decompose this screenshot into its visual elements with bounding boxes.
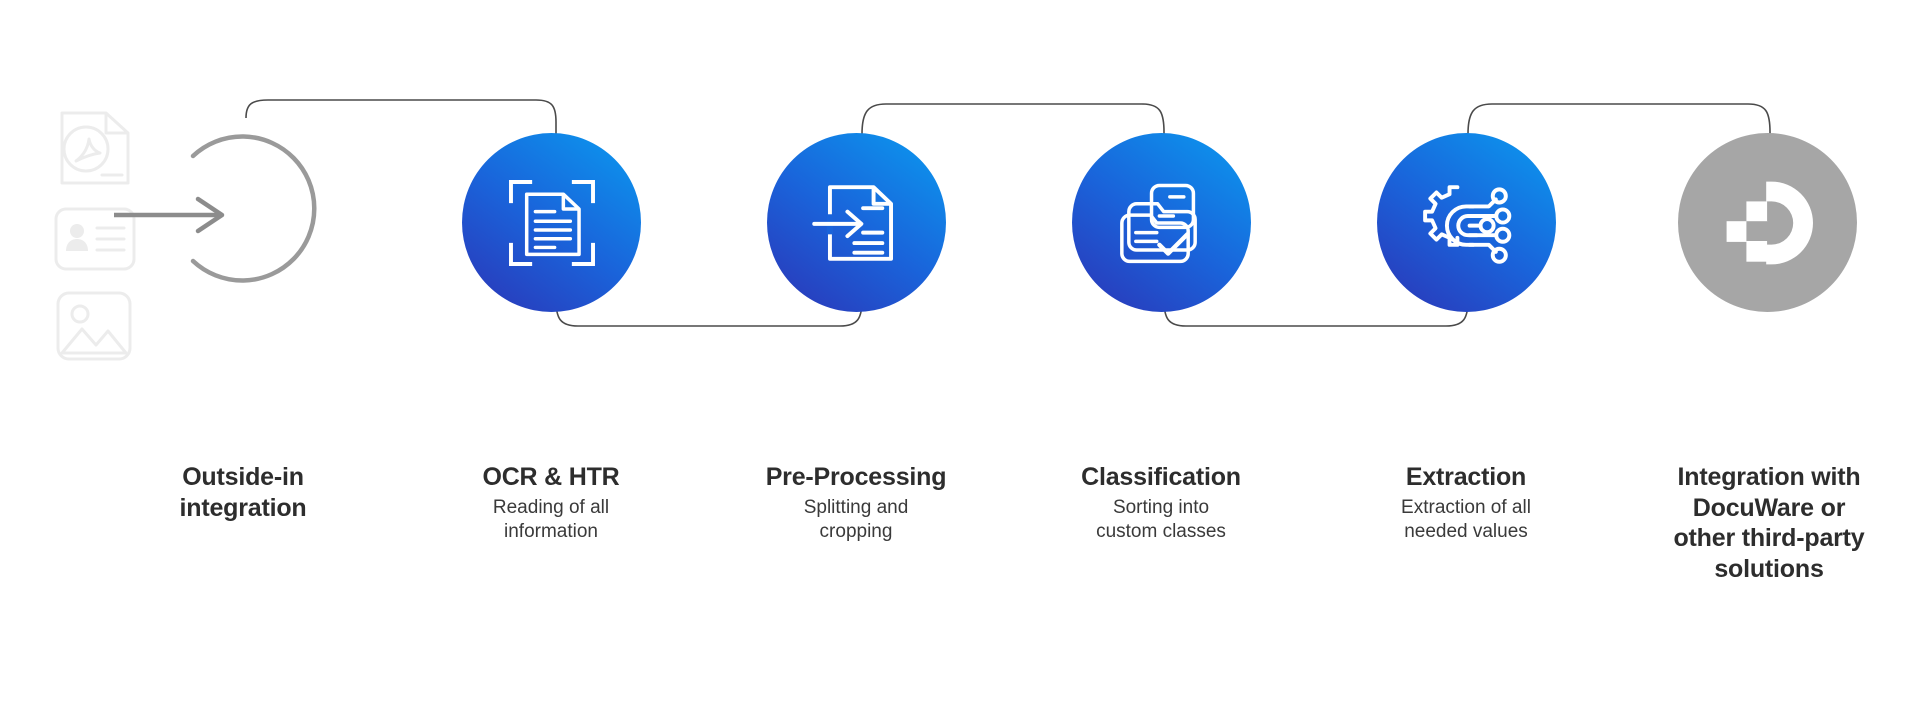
caption-title: Extraction xyxy=(1343,462,1589,493)
caption-title: Pre-Processing xyxy=(733,462,979,493)
step-node-classification[interactable] xyxy=(1072,133,1251,312)
caption-subtitle: Reading of all information xyxy=(428,496,674,545)
document-import-arrow-icon xyxy=(809,175,905,271)
step-node-ocr-htr[interactable] xyxy=(462,133,641,312)
caption-extraction: Extraction Extraction of all needed valu… xyxy=(1343,462,1589,544)
caption-subtitle: Extraction of all needed values xyxy=(1343,496,1589,545)
caption-classification: Classification Sorting into custom class… xyxy=(1038,462,1284,544)
caption-pre-processing: Pre-Processing Splitting and cropping xyxy=(733,462,979,544)
caption-integration-docuware: Integration with DocuWare or other third… xyxy=(1636,462,1902,584)
caption-outside-in-integration: Outside-in integration xyxy=(120,462,366,523)
caption-subtitle: Sorting into custom classes xyxy=(1038,496,1284,545)
pdf-document-icon xyxy=(52,105,138,191)
step-node-integration-docuware[interactable] xyxy=(1678,133,1857,312)
image-file-icon xyxy=(52,287,138,365)
caption-ocr-htr: OCR & HTR Reading of all information xyxy=(428,462,674,544)
document-scan-icon xyxy=(504,175,600,271)
connector-top-2 xyxy=(862,104,1164,140)
step-node-extraction[interactable] xyxy=(1377,133,1556,312)
folders-check-icon xyxy=(1114,175,1210,271)
caption-title: Outside-in integration xyxy=(120,462,366,523)
caption-title: Integration with DocuWare or other third… xyxy=(1636,462,1902,584)
caption-title: OCR & HTR xyxy=(428,462,674,493)
step-node-pre-processing[interactable] xyxy=(767,133,946,312)
process-flow-diagram: Outside-in integration OCR & HTR Reading… xyxy=(0,0,1920,721)
docuware-logo-icon xyxy=(1714,169,1822,277)
caption-subtitle: Splitting and cropping xyxy=(733,496,979,545)
connector-top-3 xyxy=(1468,104,1770,140)
caption-title: Classification xyxy=(1038,462,1284,493)
gear-circuit-icon xyxy=(1419,175,1515,271)
connector-lines xyxy=(0,0,1920,721)
intake-circle-icon xyxy=(155,118,336,299)
